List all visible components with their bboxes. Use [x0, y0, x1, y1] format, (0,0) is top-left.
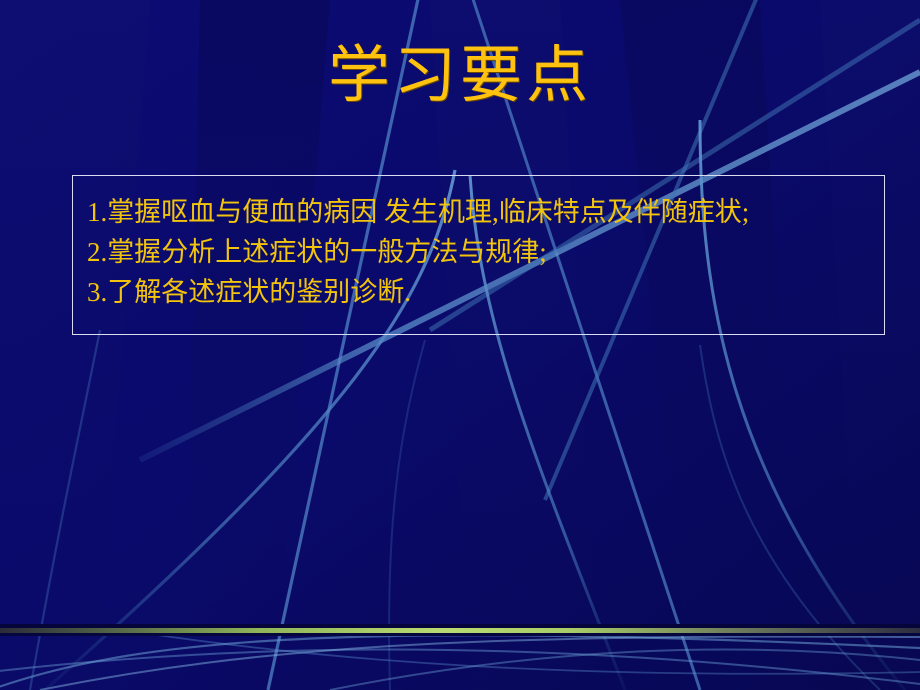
- presentation-slide: 学习要点 1.掌握呕血与便血的病因 发生机理,临床特点及伴随症状; 2.掌握分析…: [0, 0, 920, 690]
- bottom-accent-band: [0, 614, 920, 690]
- slide-title: 学习要点: [0, 44, 920, 109]
- dark-rule-bottom: [0, 633, 920, 636]
- bullet-list: 1.掌握呕血与便血的病因 发生机理,临床特点及伴随症状; 2.掌握分析上述症状的…: [87, 192, 877, 312]
- list-item: 2.掌握分析上述症状的一般方法与规律;: [87, 232, 877, 272]
- list-item: 1.掌握呕血与便血的病因 发生机理,临床特点及伴随症状;: [87, 192, 877, 232]
- list-item: 3.了解各述症状的鉴别诊断.: [87, 272, 877, 312]
- content-box: 1.掌握呕血与便血的病因 发生机理,临床特点及伴随症状; 2.掌握分析上述症状的…: [72, 175, 885, 335]
